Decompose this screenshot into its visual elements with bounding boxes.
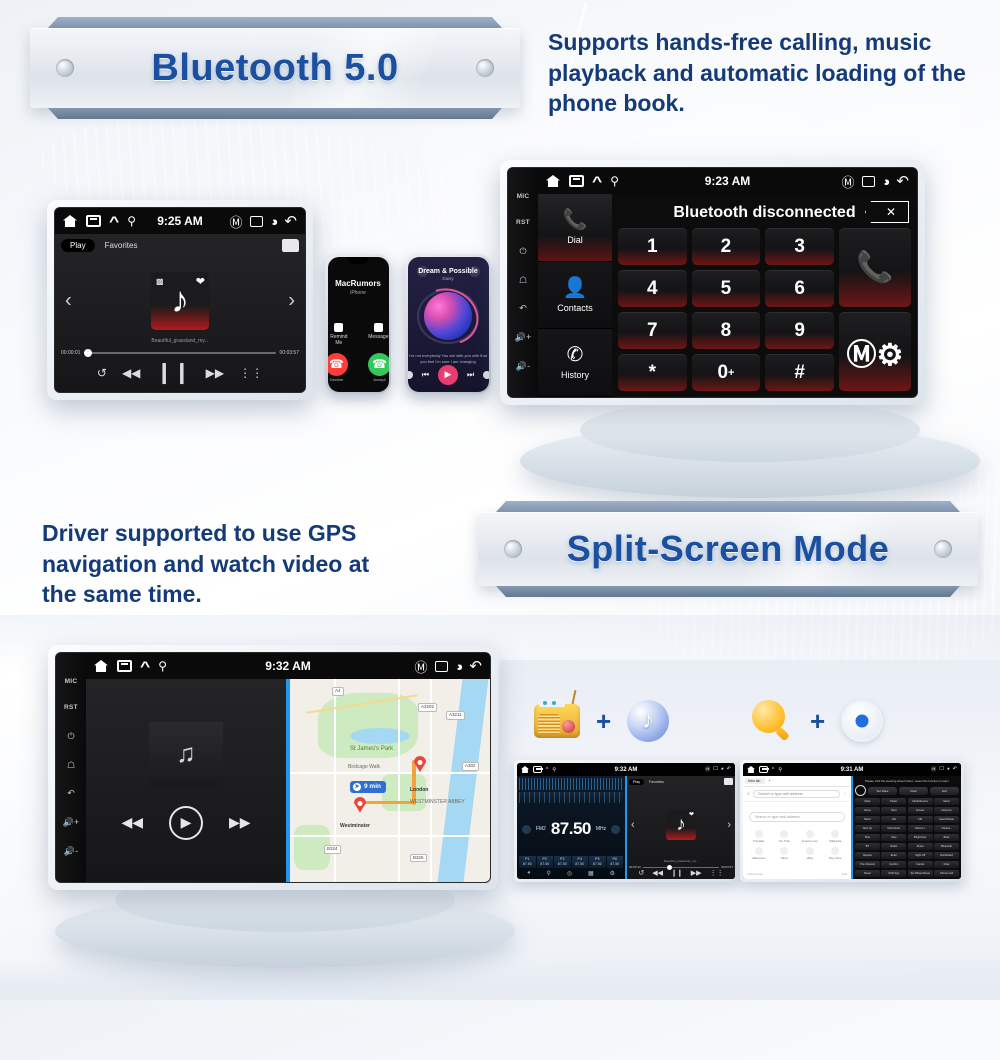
phone-icon: 📞 (563, 210, 588, 230)
phone-lyrics: I'm not everybody You are with you with … (408, 353, 489, 365)
tab-play[interactable]: Play (61, 239, 95, 252)
key-4[interactable]: 4 (618, 270, 687, 307)
album-art: ❤♪ (666, 810, 696, 840)
elapsed-time: 00:00:01 (61, 350, 80, 356)
destination-pin (414, 756, 426, 772)
map-label-walk: Birdcage Walk (348, 764, 380, 770)
bluetooth-icon[interactable]: Ⓜ (415, 657, 428, 676)
road-shield: B324 (324, 845, 341, 854)
learning-key[interactable]: Power (881, 798, 906, 805)
bluetooth-description: Supports hands-free calling, music playb… (548, 27, 978, 119)
hardware-side-buttons: MIC RST ⏻ ☖ ↶ 🔊+ 🔊- (56, 653, 86, 882)
home-icon[interactable] (94, 660, 108, 672)
tab-play[interactable]: Play (629, 779, 644, 785)
omnibox-row: ☉ Search or type web address ⋮ (745, 787, 849, 802)
folder-icon[interactable] (724, 778, 733, 785)
swc-clock: 9:31 AM (743, 767, 961, 773)
radio-frequency-row: FM2 87.50 MHz (519, 803, 623, 856)
search-input[interactable]: Search or type web address (749, 812, 845, 822)
tab-contacts-label: Contacts (557, 303, 593, 313)
back-icon[interactable]: ↶ (67, 789, 75, 798)
next-icon[interactable]: ⏭ (467, 370, 474, 380)
radio-presets: P187.50 P287.50 P387.50 P487.50 P587.50 … (519, 856, 623, 868)
tab-history-label: History (561, 370, 589, 380)
browser-tab[interactable]: New tab (745, 778, 765, 784)
dial-keypad: 1 2 3 📞 4 5 6 7 8 9 Ⓜ⚙ * 0+ (618, 228, 911, 391)
shortcut-item[interactable]: Play Store (824, 847, 848, 860)
screw-icon (56, 59, 74, 77)
cast-icon[interactable] (250, 216, 263, 227)
shortcut-item[interactable]: Amazon.com (798, 830, 822, 843)
eta-text: 9 min (364, 783, 381, 790)
learning-key[interactable]: Pre-Channel (855, 861, 880, 868)
repeat-icon[interactable]: ↺ (638, 869, 644, 877)
shortcut-item[interactable]: Yahoo (773, 847, 797, 860)
radio-music-split-unit: ^ ⚲ 9:32 AM Ⓜ ☐ ◕ ↶ FM2 87.50 MHz (514, 760, 738, 882)
screw-icon (504, 540, 522, 558)
equalizer-badge-icon: ▩ (156, 277, 164, 286)
next-icon[interactable] (483, 371, 488, 379)
steering-wheel-learning-pane: Please click the steering wheel button, … (853, 776, 961, 879)
volume-down-icon[interactable]: 🔊- (64, 847, 78, 856)
music-pane-artwork: ‹ ❤♪ › Beautiful_grassland_my... (629, 785, 733, 865)
radio-band: FM2 (536, 826, 546, 832)
key-1[interactable]: 1 (618, 228, 687, 265)
video-music-pane: ♫ ◀◀ ▶ ▶▶ (86, 679, 286, 882)
split-screen: ^ ⚲ 9:32 AM Ⓜ ◕ ↶ ♫ ◀◀ ▶ ▶▶ (86, 653, 490, 882)
footer-left-label: Android Auto (747, 872, 763, 876)
dialer-tabs: 📞 Dial 👤 Contacts ✆ History (538, 194, 612, 397)
map-label-abbey: WESTMINSTER ABBEY (410, 799, 465, 805)
tab-contacts[interactable]: 👤 Contacts (538, 262, 612, 330)
key-0[interactable]: 0+ (692, 354, 761, 391)
learning-key[interactable]: Band (855, 816, 880, 823)
phone-song-artist: Daisy (442, 276, 453, 281)
decline-label: Decline (328, 377, 349, 382)
play-icon[interactable]: ▶ (169, 806, 203, 840)
cast-icon[interactable]: ☐ (939, 766, 943, 773)
list-icon[interactable]: ▦ (588, 870, 594, 877)
learning-key[interactable]: Next Up (855, 825, 880, 832)
previous-icon[interactable]: ◀◀ (121, 814, 143, 831)
learning-key[interactable]: Hang Up (934, 807, 959, 814)
call-log-icon: ✆ (567, 345, 584, 365)
music-note-icon: ♪ (171, 282, 189, 318)
call-button[interactable]: 📞 (839, 228, 911, 307)
phone-notch (348, 257, 369, 264)
edit-button[interactable]: Edit (842, 872, 847, 876)
omnibox-input[interactable]: Search or type web address (753, 790, 840, 798)
track-title: Beautiful_grassland_my... (629, 859, 733, 863)
apps-icon[interactable] (117, 660, 132, 672)
browser-footer: Android Auto Edit (745, 872, 849, 877)
reset-button[interactable]: RST (516, 220, 530, 227)
swc-status-bar: ^ ⚲ 9:31 AM Ⓜ ☐ ◕ ↶ (743, 763, 961, 776)
plus-icon: + (810, 706, 825, 737)
tune-down-button[interactable] (522, 825, 531, 834)
radio-frequency: 87.50 (551, 819, 591, 839)
road-shield: A3202 (418, 703, 437, 712)
splitscreen-banner: Split-Screen Mode (478, 512, 978, 586)
transport-controls: ↺ ◀◀ ❙❙ ▶▶ ⋮⋮ (629, 869, 733, 877)
home-icon[interactable] (63, 215, 77, 227)
split-panes: ♫ ◀◀ ▶ ▶▶ (86, 679, 490, 882)
preset-5[interactable]: P587.50 (589, 856, 606, 868)
seek-knob[interactable] (84, 349, 92, 357)
seek-bar-row[interactable]: 00:00:01 00:03:57 (61, 350, 299, 356)
bluetooth-icon[interactable]: Ⓜ (230, 212, 243, 231)
home-icon[interactable] (546, 175, 560, 187)
favorite-icon[interactable]: ❤ (689, 811, 694, 818)
next-icon[interactable]: ▶▶ (691, 869, 702, 877)
browser-tab-bar: New tab + (745, 778, 849, 787)
accept-label: Accept (368, 377, 389, 382)
map-label-westminster: Westminster (340, 823, 370, 829)
apps-icon[interactable] (569, 175, 584, 187)
favorite-icon[interactable]: ❤ (196, 275, 205, 288)
volume-up-icon[interactable]: 🔊+ (515, 333, 531, 342)
road-shield: A3211 (446, 711, 465, 720)
back-icon[interactable]: ↶ (896, 172, 909, 190)
radio-frequency-unit: MHz (596, 826, 606, 832)
learning-key[interactable]: Search/Scan (934, 816, 959, 823)
learning-key[interactable]: FM (908, 816, 933, 823)
pause-icon[interactable]: ❙❙ (671, 869, 683, 877)
browser-shortcuts: Translate You Tube Amazon.com Wikipedia … (745, 827, 849, 863)
screw-icon (476, 59, 494, 77)
play-icon[interactable]: ▶ (438, 365, 458, 385)
plus-icon: + (596, 706, 611, 737)
back-icon[interactable]: ↶ (469, 657, 482, 675)
message-button[interactable]: Message (368, 323, 388, 346)
learning-key[interactable]: Answer (908, 807, 933, 814)
new-tab-button[interactable]: + (768, 779, 770, 783)
call-quick-actions: Remind Me Message (328, 323, 389, 346)
radio-waveform (519, 778, 623, 790)
back-icon[interactable]: ↶ (519, 304, 527, 313)
wifi-icon[interactable]: ◕ (266, 213, 281, 230)
bluetooth-banner-title: Bluetooth 5.0 (151, 47, 398, 90)
tab-favorites[interactable]: Favorites (649, 780, 664, 784)
music-pane-tabs: Play Favorites (629, 778, 733, 785)
learning-key[interactable]: Music (908, 843, 933, 850)
learning-key[interactable]: Back (934, 834, 959, 841)
learning-key[interactable]: Sight Off (908, 852, 933, 859)
home-icon[interactable]: ☖ (519, 276, 527, 285)
tab-favorites[interactable]: Favorites (105, 241, 138, 250)
road-shield: B326 (410, 854, 427, 863)
radio-pane: FM2 87.50 MHz P187.50 P287.50 P387.50 P4… (517, 776, 625, 879)
music-player: Play Favorites ‹ ▩ ❤ ♪ › Beautiful_grass… (55, 234, 305, 392)
cast-icon[interactable]: ☐ (713, 766, 717, 773)
learning-key[interactable]: Mute (934, 861, 959, 868)
remind-me-button[interactable]: Remind Me (328, 323, 351, 346)
previous-icon[interactable] (408, 371, 413, 379)
transport-controls: ↺ ◀◀ ❙❙ ▶▶ ⋮⋮ (61, 360, 299, 387)
home-icon[interactable]: ☖ (67, 761, 75, 770)
bluetooth-icon[interactable]: Ⓜ (931, 766, 936, 773)
learning-key[interactable]: Repeat (855, 852, 880, 859)
map-label-london: London (410, 787, 428, 793)
key-3[interactable]: 3 (765, 228, 834, 265)
key-5[interactable]: 5 (692, 270, 761, 307)
dialer-body: 📞 Dial 👤 Contacts ✆ History Bluetooth di… (538, 194, 917, 397)
learning-key[interactable]: BT (855, 843, 880, 850)
preset-2[interactable]: P287.50 (537, 856, 554, 868)
volume-down-icon[interactable]: 🔊- (516, 362, 530, 371)
shortcut-item[interactable]: You Tube (773, 830, 797, 843)
learning-key[interactable]: Set Wheel Reset (908, 870, 933, 877)
radio-music-panes: FM2 87.50 MHz P187.50 P287.50 P387.50 P4… (517, 776, 735, 879)
learning-key[interactable]: Play (855, 834, 880, 841)
usb-icon: ⚲ (127, 214, 136, 228)
decline-call-button[interactable]: ☎ (328, 353, 349, 376)
next-icon[interactable]: ▶▶ (229, 814, 251, 831)
learning-key[interactable]: Navi (881, 807, 906, 814)
radio-clock: 9:32 AM (517, 767, 735, 773)
learning-key[interactable]: Volume - (934, 825, 959, 832)
eta-badge: ➤ 9 min (350, 781, 386, 793)
music-artwork-area: ‹ ▩ ❤ ♪ › Beautiful_grassland_my... (61, 252, 299, 350)
bluetooth-settings-button[interactable]: Ⓜ⚙ (839, 312, 911, 391)
cast-icon[interactable] (862, 176, 875, 187)
radio-toolbar: ◕ ⚲ ◎ ▦ ⚙ (519, 868, 623, 877)
split-transport-controls: ◀◀ ▶ ▶▶ (121, 806, 250, 840)
preset-6[interactable]: P687.50 (607, 856, 624, 868)
learning-key[interactable]: DVD App (881, 870, 906, 877)
accept-call-button[interactable]: ☎ (368, 353, 389, 376)
back-icon[interactable]: ↶ (727, 766, 731, 773)
next-track-arrow[interactable]: › (288, 290, 295, 313)
split-status-bar: ^ ⚲ 9:32 AM Ⓜ ◕ ↶ (86, 653, 490, 679)
call-answer-row: ☎ Decline ☎ Accept (328, 353, 389, 382)
bluetooth-banner: Bluetooth 5.0 (30, 28, 520, 108)
tab-dial[interactable]: 📞 Dial (538, 194, 612, 262)
learning-key[interactable]: Phone Call (934, 870, 959, 877)
next-icon[interactable]: ▶▶ (206, 366, 224, 380)
caller-subtitle: iPhone (350, 290, 366, 296)
origin-pin (354, 797, 366, 813)
browser-swc-panes: New tab + ☉ Search or type web address ⋮… (743, 776, 961, 879)
splitscreen-banner-title: Split-Screen Mode (567, 528, 890, 570)
key-hash[interactable]: # (765, 354, 834, 391)
equalizer-icon[interactable]: ⋮⋮ (239, 366, 263, 380)
learning-hint: Please click the steering wheel button, … (855, 778, 959, 785)
chevron-up-icon[interactable]: ^ (592, 173, 602, 189)
wifi-icon[interactable]: ◕ (947, 766, 950, 773)
album-art: ▩ ❤ ♪ (151, 272, 209, 330)
folder-icon[interactable] (282, 239, 299, 252)
learning-key-grid: MutePowerMode/SourceMenuHomeNaviAnswerHa… (855, 798, 959, 877)
road-shield: A302 (462, 762, 479, 771)
steering-wheel-icon (841, 700, 883, 742)
dialer-status-bar: ^ ⚲ 9:23 AM Ⓜ ◕ ↶ (538, 168, 917, 194)
learning-key[interactable]: Dashboard (934, 852, 959, 859)
clear-button[interactable]: Clear (899, 787, 928, 795)
learning-key[interactable]: AM (881, 816, 906, 823)
browser-pane: New tab + ☉ Search or type web address ⋮… (743, 776, 851, 879)
shortcut-item[interactable]: AliExpress (747, 847, 771, 860)
steering-wheel-icon (855, 785, 866, 796)
chevron-up-icon[interactable]: ^ (140, 658, 150, 674)
wifi-icon[interactable]: ◕ (451, 658, 466, 675)
gps-description: Driver supported to use GPS navigation a… (42, 518, 392, 610)
radio-status-bar: ^ ⚲ 9:32 AM Ⓜ ☐ ◕ ↶ (517, 763, 735, 776)
display-pedestal (520, 398, 980, 498)
phone-transport-controls: ⏮ ▶ ⏭ (408, 365, 489, 385)
road-shield: A4 (332, 687, 344, 696)
learning-key[interactable]: Menu (934, 798, 959, 805)
learning-key[interactable]: Next Down (881, 825, 906, 832)
shortcut-item[interactable]: Translate (747, 830, 771, 843)
learning-key[interactable]: Home (855, 807, 880, 814)
navigation-map-pane[interactable]: A4 A3202 A3211 A302 B324 St James's Park… (290, 679, 490, 882)
caller-name: MacRumors (335, 279, 381, 288)
learning-key[interactable]: Bluetooth (934, 843, 959, 850)
set-value-button[interactable]: Set Value (868, 787, 897, 795)
music-app-phone: Dream & Possible Daisy I'm not everybody… (405, 254, 491, 394)
key-star[interactable]: * (618, 354, 687, 391)
learning-key[interactable]: Cancel (908, 861, 933, 868)
preset-3[interactable]: P387.50 (554, 856, 571, 868)
previous-track-arrow[interactable]: ‹ (65, 290, 72, 313)
tab-history[interactable]: ✆ History (538, 329, 612, 397)
repeat-icon[interactable]: ↺ (97, 366, 107, 380)
back-icon[interactable]: ↶ (284, 212, 297, 230)
progress-ring (417, 289, 479, 344)
map-label-park: St James's Park (350, 746, 393, 752)
previous-icon[interactable]: ⏮ (422, 370, 429, 380)
page-icon: ☉ (747, 792, 750, 796)
key-7[interactable]: 7 (618, 312, 687, 349)
back-button-phone[interactable] (417, 266, 428, 277)
radio-music-feature-icons: + ♪ (534, 700, 669, 742)
mic-button[interactable]: MIC (65, 679, 78, 686)
usb-icon: ⚲ (158, 659, 167, 673)
dialer-screen: ^ ⚲ 9:23 AM Ⓜ ◕ ↶ 📞 Dial 👤 (538, 168, 917, 397)
music-visualizer-art: ♫ (149, 722, 223, 786)
key-9[interactable]: 9 (765, 312, 834, 349)
search-wheel-feature-icons: + (752, 700, 883, 742)
key-8[interactable]: 8 (692, 312, 761, 349)
radio-icon (534, 704, 580, 738)
music-icon: ♪ (627, 700, 669, 742)
menu-button-phone[interactable] (469, 266, 480, 277)
learning-toolbar: Set Value Clear Exit (855, 785, 959, 798)
menu-icon[interactable]: ⋮ (843, 792, 847, 796)
exit-button[interactable]: Exit (930, 787, 959, 795)
learning-key[interactable]: Mode/Source (908, 798, 933, 805)
apps-icon[interactable] (86, 215, 101, 227)
key-2[interactable]: 2 (692, 228, 761, 265)
mic-button[interactable]: MIC (517, 194, 530, 201)
music-status-bar: ^ ⚲ 9:25 AM Ⓜ ◕ ↶ (55, 208, 305, 234)
previous-icon[interactable]: ◀◀ (652, 869, 663, 877)
previous-track-arrow[interactable]: ‹ (631, 819, 635, 831)
radio-icon[interactable]: ◕ (527, 870, 531, 877)
bottom-fade-band (0, 958, 1000, 1000)
navigation-arrow-icon: ➤ (353, 783, 361, 791)
bluetooth-icon[interactable]: Ⓜ (842, 172, 855, 191)
learning-key[interactable]: Brightness (908, 834, 933, 841)
pause-icon[interactable]: ❙❙ (155, 360, 190, 385)
settings-icon[interactable]: ⚙ (610, 870, 615, 877)
previous-icon[interactable]: ◀◀ (122, 366, 140, 380)
key-6[interactable]: 6 (765, 270, 834, 307)
usb-icon: ⚲ (610, 174, 619, 188)
duration-time: 00:03:57 (280, 350, 299, 356)
dialer-keypad-area: Bluetooth disconnected ✕ 1 2 3 📞 4 5 6 7… (612, 194, 917, 397)
person-icon: 👤 (563, 278, 588, 298)
reset-button[interactable]: RST (64, 705, 78, 712)
bluetooth-icon[interactable]: Ⓜ (705, 766, 710, 773)
seek-bar[interactable] (84, 352, 275, 354)
next-track-arrow[interactable]: › (727, 819, 731, 831)
learning-key[interactable]: Mute (855, 798, 880, 805)
learning-key[interactable]: Volume + (908, 825, 933, 832)
wifi-icon[interactable]: ◕ (878, 173, 893, 190)
learning-key[interactable]: Reset (855, 870, 880, 877)
power-icon[interactable]: ⏻ (519, 247, 526, 256)
music-pane: Play Favorites ‹ ❤♪ › Beautiful_grasslan… (627, 776, 735, 879)
chevron-up-icon[interactable]: ^ (109, 213, 119, 229)
radio-tuning-scale[interactable] (519, 792, 623, 803)
wifi-icon[interactable]: ◕ (721, 766, 724, 773)
preset-1[interactable]: P187.50 (519, 856, 536, 868)
connection-status-text: Bluetooth disconnected (673, 204, 855, 222)
learning-key[interactable]: Radio (881, 843, 906, 850)
hardware-side-buttons: MIC RST ⏻ ☖ ↶ 🔊+ 🔊- (508, 168, 538, 397)
equalizer-icon[interactable]: ⋮⋮ (710, 869, 724, 877)
shortcut-item[interactable]: eBay (798, 847, 822, 860)
phone-album-art (424, 292, 472, 340)
tab-dial-label: Dial (567, 235, 583, 245)
learning-key[interactable]: Confirm (881, 861, 906, 868)
screw-icon (934, 540, 952, 558)
music-screen: ^ ⚲ 9:25 AM Ⓜ ◕ ↶ Play Favorites ‹ (55, 208, 305, 392)
tune-up-button[interactable] (611, 825, 620, 834)
preset-4[interactable]: P487.50 (572, 856, 589, 868)
back-icon[interactable]: ↶ (953, 766, 957, 773)
learning-key[interactable]: Enter (881, 852, 906, 859)
shortcut-item[interactable]: Wikipedia (824, 830, 848, 843)
cast-icon[interactable] (435, 661, 448, 672)
track-title: Beautiful_grassland_my... (61, 338, 299, 344)
scan-icon[interactable]: ◎ (567, 870, 572, 877)
volume-up-icon[interactable]: 🔊+ (63, 818, 79, 827)
dialer-header: Bluetooth disconnected ✕ (618, 198, 911, 228)
learning-key[interactable]: Stop (881, 834, 906, 841)
split-screen-unit: MIC RST ⏻ ☖ ↶ 🔊+ 🔊- ^ ⚲ 9:32 AM Ⓜ ◕ ↶ (48, 645, 498, 890)
search-icon (752, 700, 794, 742)
browser-swc-split-unit: ^ ⚲ 9:31 AM Ⓜ ☐ ◕ ↶ New tab + ☉ Search o… (740, 760, 964, 882)
backspace-button[interactable]: ✕ (865, 201, 909, 223)
power-icon[interactable]: ⏻ (67, 732, 74, 741)
music-tabs: Play Favorites (61, 239, 299, 252)
music-head-unit: ^ ⚲ 9:25 AM Ⓜ ◕ ↶ Play Favorites ‹ (47, 200, 313, 400)
search-icon[interactable]: ⚲ (547, 870, 551, 877)
incoming-call-phone: MacRumors iPhone Remind Me Message ☎ Dec… (325, 254, 391, 394)
bluetooth-dialer-unit: MIC RST ⏻ ☖ ↶ 🔊+ 🔊- ^ ⚲ 9:23 AM Ⓜ ◕ ↶ (500, 160, 925, 405)
